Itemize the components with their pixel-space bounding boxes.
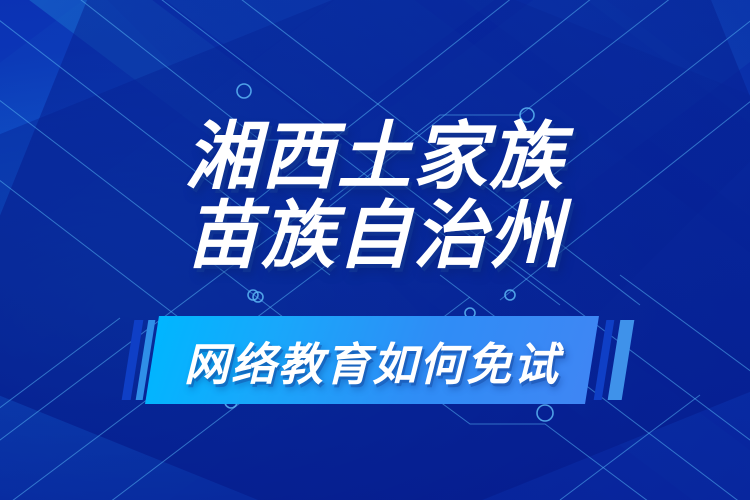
promo-banner: 湘西土家族 苗族自治州 网络教育如何免试 (0, 0, 750, 500)
banner-title: 湘西土家族 苗族自治州 (0, 118, 750, 276)
banner-title-line-1: 湘西土家族 (0, 118, 750, 197)
deco-circle-1 (237, 84, 251, 98)
deco-circle-6 (537, 405, 553, 421)
banner-title-line-2: 苗族自治州 (0, 197, 750, 276)
banner-subtitle-group: 网络教育如何免试 (0, 316, 750, 404)
banner-subtitle-text: 网络教育如何免试 (152, 316, 592, 404)
